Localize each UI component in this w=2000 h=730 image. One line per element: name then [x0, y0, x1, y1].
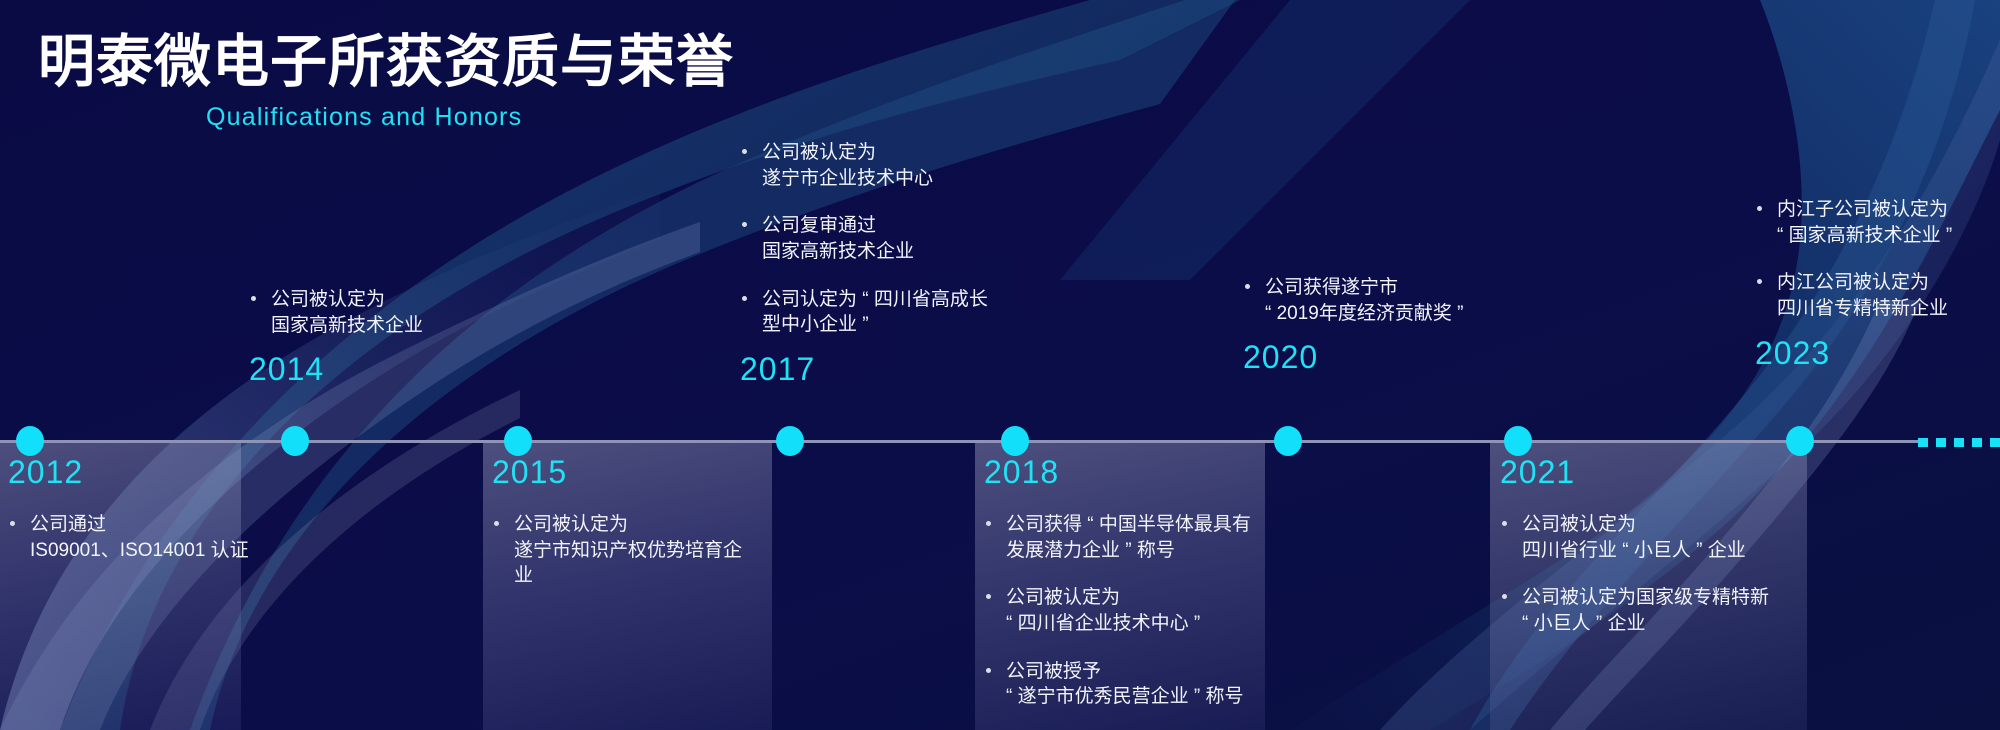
axis-dash — [1918, 438, 1928, 447]
achievement-item: 内江公司被认定为 四川省专精特新企业 — [1755, 270, 1952, 321]
achievement-item: 公司被认定为国家级专精特新 “ 小巨人 ” 企业 — [1500, 585, 1769, 636]
timeline-dot-2014[interactable] — [281, 426, 309, 456]
timeline-entry-2020: 公司获得遂宁市 “ 2019年度经济贡献奖 ”2020 — [1243, 275, 1463, 375]
year-label-2018: 2018 — [984, 455, 1251, 490]
timeline-dot-2017[interactable] — [776, 426, 804, 456]
timeline-entry-2015: 2015公司被认定为 遂宁市知识产权优势培育企 业 — [492, 455, 742, 589]
axis-dash — [1954, 438, 1964, 447]
achievement-list-2012: 公司通过 IS09001、ISO14001 认证 — [8, 512, 249, 563]
timeline-entry-2018: 2018公司获得 “ 中国半导体最具有 发展潜力企业 ” 称号公司被认定为 “ … — [984, 455, 1251, 710]
achievement-item: 公司获得遂宁市 “ 2019年度经济贡献奖 ” — [1243, 275, 1463, 326]
achievement-list-2018: 公司获得 “ 中国半导体最具有 发展潜力企业 ” 称号公司被认定为 “ 四川省企… — [984, 512, 1251, 710]
year-label-2014: 2014 — [249, 352, 423, 387]
achievement-item: 公司被认定为 四川省行业 “ 小巨人 ” 企业 — [1500, 512, 1769, 563]
timeline-dot-2020[interactable] — [1274, 426, 1302, 456]
achievement-item: 公司复审通过 国家高新技术企业 — [740, 213, 988, 264]
slide-header: 明泰微电子所获资质与荣誉 Qualifications and Honors — [38, 34, 734, 132]
achievement-item: 公司被授予 “ 遂宁市优秀民营企业 ” 称号 — [984, 659, 1251, 710]
timeline-entry-2023: 内江子公司被认定为 “ 国家高新技术企业 ”内江公司被认定为 四川省专精特新企业… — [1755, 197, 1952, 371]
timeline-dot-2023[interactable] — [1786, 426, 1814, 456]
timeline-entry-2014: 公司被认定为 国家高新技术企业2014 — [249, 287, 423, 387]
achievement-list-2017: 公司被认定为 遂宁市企业技术中心公司复审通过 国家高新技术企业公司认定为 “ 四… — [740, 140, 988, 338]
achievement-item: 内江子公司被认定为 “ 国家高新技术企业 ” — [1755, 197, 1952, 248]
year-label-2012: 2012 — [8, 455, 249, 490]
slide-canvas: 明泰微电子所获资质与荣誉 Qualifications and Honors 2… — [0, 0, 2000, 730]
axis-dash — [1990, 438, 2000, 447]
achievement-list-2021: 公司被认定为 四川省行业 “ 小巨人 ” 企业公司被认定为国家级专精特新 “ 小… — [1500, 512, 1769, 637]
timeline-entry-2021: 2021公司被认定为 四川省行业 “ 小巨人 ” 企业公司被认定为国家级专精特新… — [1500, 455, 1769, 637]
achievement-item: 公司被认定为 遂宁市企业技术中心 — [740, 140, 988, 191]
achievement-item: 公司通过 IS09001、ISO14001 认证 — [8, 512, 249, 563]
achievement-item: 公司被认定为 “ 四川省企业技术中心 ” — [984, 585, 1251, 636]
achievement-list-2014: 公司被认定为 国家高新技术企业 — [249, 287, 423, 338]
timeline-axis-dashes — [1918, 438, 2000, 447]
achievement-item: 公司认定为 “ 四川省高成长 型中小企业 ” — [740, 287, 988, 338]
page-title: 明泰微电子所获资质与荣誉 — [38, 34, 734, 91]
achievement-list-2023: 内江子公司被认定为 “ 国家高新技术企业 ”内江公司被认定为 四川省专精特新企业 — [1755, 197, 1952, 322]
achievement-item: 公司获得 “ 中国半导体最具有 发展潜力企业 ” 称号 — [984, 512, 1251, 563]
timeline-dot-2021[interactable] — [1504, 426, 1532, 456]
achievement-list-2020: 公司获得遂宁市 “ 2019年度经济贡献奖 ” — [1243, 275, 1463, 326]
timeline-entry-2017: 公司被认定为 遂宁市企业技术中心公司复审通过 国家高新技术企业公司认定为 “ 四… — [740, 140, 988, 387]
year-label-2015: 2015 — [492, 455, 742, 490]
timeline-dot-2012[interactable] — [16, 426, 44, 456]
year-label-2020: 2020 — [1243, 340, 1463, 375]
timeline-dot-2018[interactable] — [1001, 426, 1029, 456]
timeline-entry-2012: 2012公司通过 IS09001、ISO14001 认证 — [8, 455, 249, 563]
axis-dash — [1972, 438, 1982, 447]
year-label-2023: 2023 — [1755, 336, 1952, 371]
achievement-list-2015: 公司被认定为 遂宁市知识产权优势培育企 业 — [492, 512, 742, 589]
year-label-2017: 2017 — [740, 352, 988, 387]
achievement-item: 公司被认定为 遂宁市知识产权优势培育企 业 — [492, 512, 742, 589]
achievement-item: 公司被认定为 国家高新技术企业 — [249, 287, 423, 338]
page-subtitle: Qualifications and Honors — [206, 103, 734, 132]
timeline-dot-2015[interactable] — [504, 426, 532, 456]
year-label-2021: 2021 — [1500, 455, 1769, 490]
axis-dash — [1936, 438, 1946, 447]
